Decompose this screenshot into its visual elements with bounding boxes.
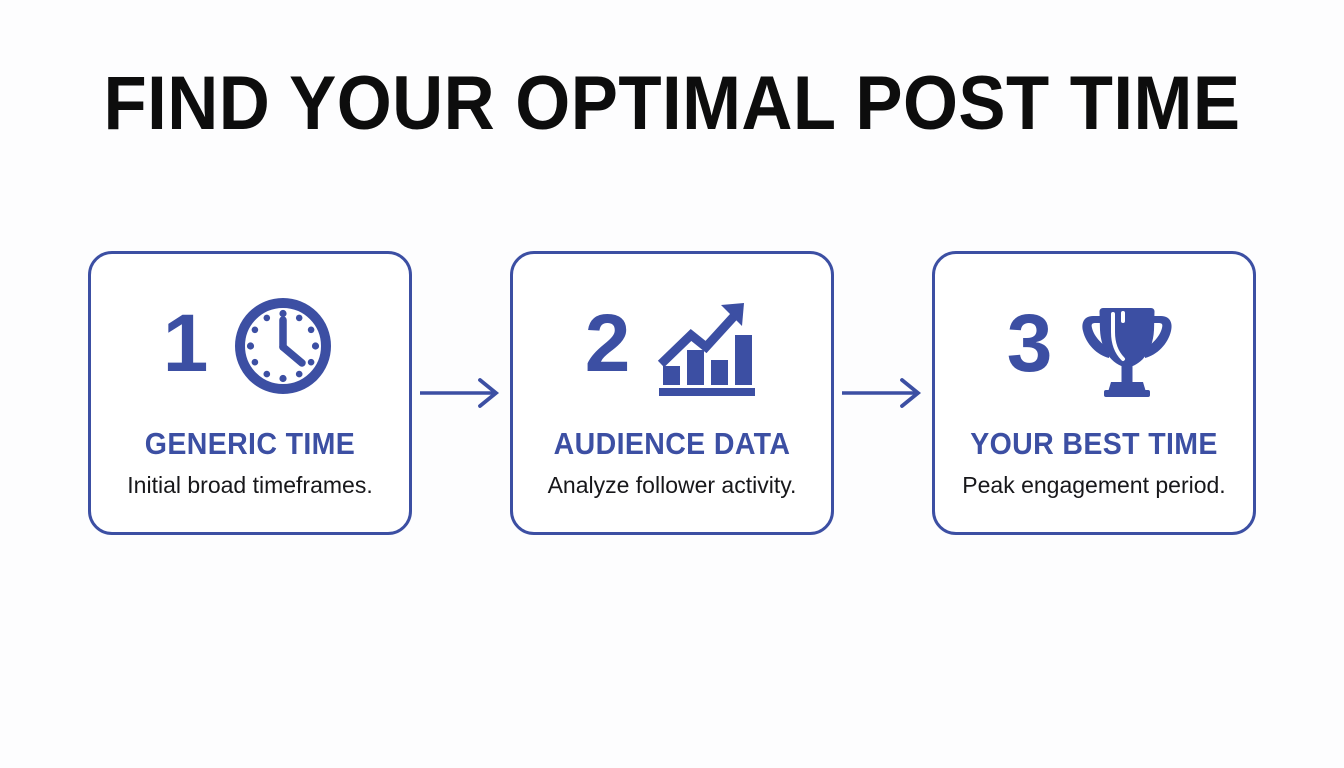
process-flow: 1 — [88, 251, 1256, 535]
page-title: FIND YOUR OPTIMAL POST TIME — [47, 62, 1297, 146]
step-card-2[interactable]: 2 AUDIENCE DATA Analyze follower activit… — [510, 251, 834, 535]
bar-chart-growth-icon — [651, 294, 759, 398]
step-caption-2: Analyze follower activity. — [513, 470, 831, 500]
arrow-right-icon — [840, 376, 926, 410]
arrow-right-icon — [418, 376, 504, 410]
step-heading-3: YOUR BEST TIME — [948, 426, 1241, 462]
step-number-3: 3 — [1007, 303, 1052, 385]
step-3-header: 3 — [935, 290, 1253, 402]
step-heading-2: AUDIENCE DATA — [526, 426, 819, 462]
clock-icon — [229, 294, 337, 398]
step-1-header: 1 — [91, 290, 409, 402]
step-number-2: 2 — [585, 303, 630, 385]
step-2-header: 2 — [513, 290, 831, 402]
step-card-3[interactable]: 3 — [932, 251, 1256, 535]
trophy-icon — [1073, 294, 1181, 398]
step-caption-3: Peak engagement period. — [935, 470, 1253, 500]
connector-2-to-3 — [834, 251, 932, 535]
step-card-1[interactable]: 1 — [88, 251, 412, 535]
connector-1-to-2 — [412, 251, 510, 535]
step-heading-1: GENERIC TIME — [104, 426, 397, 462]
step-caption-1: Initial broad timeframes. — [91, 470, 409, 500]
step-number-1: 1 — [163, 303, 208, 385]
